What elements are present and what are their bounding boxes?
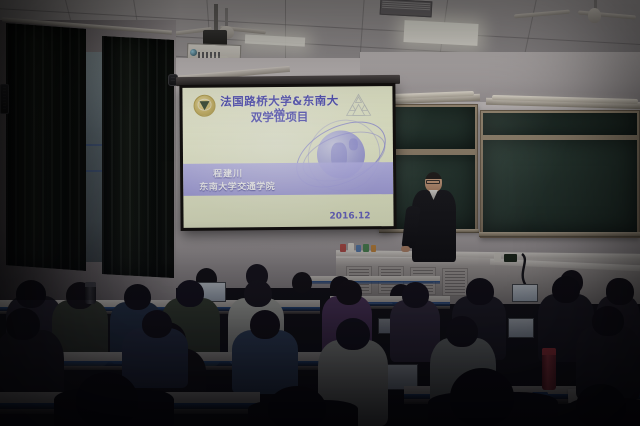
audience-head-foreground — [576, 384, 626, 426]
desk-item-box-red — [340, 244, 346, 252]
southeast-university-seal-icon — [193, 95, 215, 117]
desk-item-box-blue — [356, 245, 361, 252]
chalkboard-left-upper — [383, 107, 475, 149]
slide-presenter-name: 程建川 — [213, 166, 243, 179]
ceiling-panel-light — [403, 20, 478, 46]
audience-head-foreground — [450, 368, 514, 426]
audience-head — [250, 310, 280, 339]
chalkboard-right-lower — [483, 140, 637, 232]
ceiling-fan-right — [560, 0, 630, 40]
audience-head — [336, 318, 370, 350]
slide-date: 2016.12 — [329, 211, 370, 221]
blackout-curtain-right — [102, 36, 174, 278]
slide-subtitle: 双学位项目 — [217, 111, 343, 125]
laptop-open — [512, 284, 538, 302]
desk-louver-4 — [442, 268, 468, 296]
presenter-glasses-icon — [426, 180, 440, 184]
laptop-open — [508, 318, 534, 338]
desk-item-box-white — [348, 243, 354, 252]
water-bottle-dark — [85, 282, 96, 304]
audience-head — [402, 282, 429, 308]
presenter-hand — [401, 246, 410, 252]
chalkboard-right-upper — [483, 113, 637, 135]
blackout-curtain-left — [6, 23, 86, 271]
audience-head — [16, 280, 46, 308]
projector-lens — [190, 49, 197, 56]
audience-head — [336, 280, 362, 305]
chalk-tray-right — [479, 232, 640, 237]
ceiling-air-vent — [380, 0, 433, 17]
audience-head — [552, 276, 580, 303]
desk-item-box-green — [363, 244, 369, 252]
slide-presenter-org: 东南大学交通学院 — [199, 179, 275, 193]
lecture-hall-photo: 法国路桥大学&东南大学 双学位项目 程建川 东南大学交通学院 2016.12 — [0, 0, 640, 426]
audience-head — [606, 278, 634, 305]
audience-head — [6, 308, 40, 340]
audience-head — [176, 280, 204, 307]
desk-item-box-orange — [371, 245, 376, 252]
audience-head-foreground — [76, 372, 138, 426]
projection-screen: 法国路桥大学&东南大学 双学位项目 程建川 东南大学交通学院 2016.12 — [179, 83, 396, 231]
wall-mounted-speaker — [0, 84, 9, 114]
presentation-slide: 法国路桥大学&东南大学 双学位项目 程建川 东南大学交通学院 2016.12 — [182, 86, 393, 228]
water-bottle-red — [542, 348, 556, 390]
audience-head — [592, 306, 624, 336]
shelf-item-cup — [494, 253, 501, 262]
ecole-des-ponts-triangle-icon — [343, 91, 373, 119]
audience-body — [232, 330, 298, 394]
presenter-body — [412, 190, 456, 262]
audience-head — [124, 284, 151, 310]
audience-head — [142, 310, 172, 338]
audience-head — [466, 278, 494, 305]
audience-head-foreground — [268, 386, 326, 426]
audience-head — [446, 316, 478, 347]
audience-head — [244, 280, 272, 307]
audience-head — [292, 272, 312, 293]
